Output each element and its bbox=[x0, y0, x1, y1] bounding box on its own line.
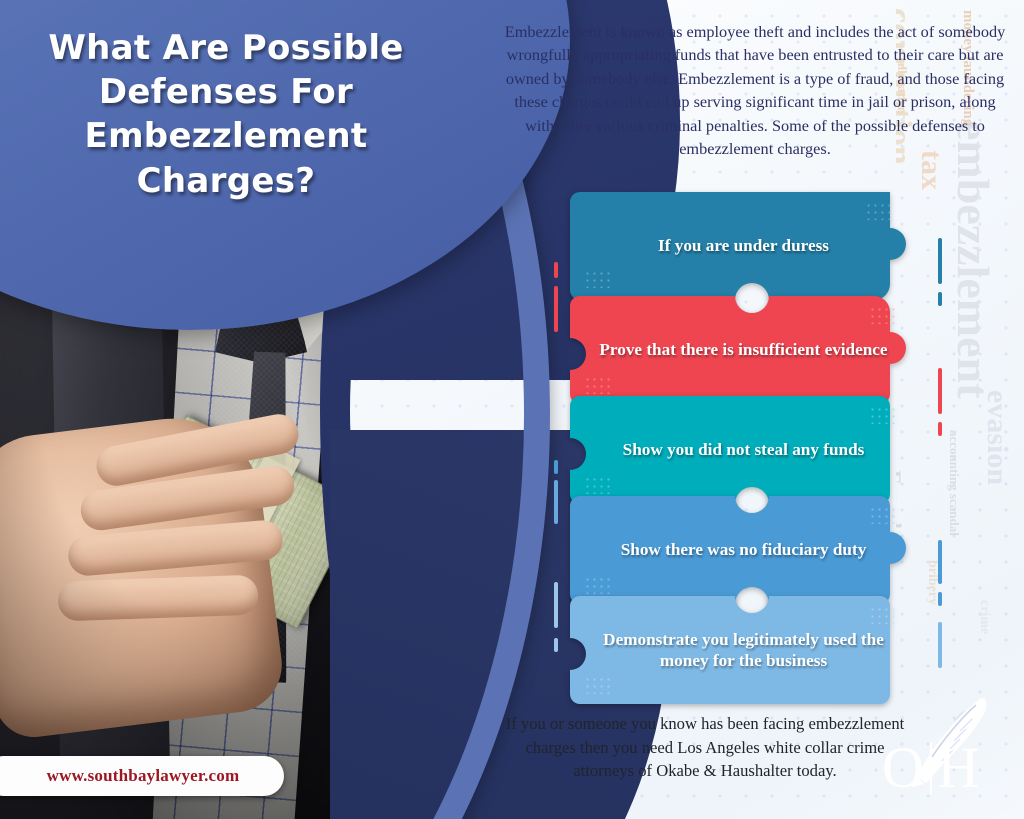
website-url-badge[interactable]: www.southbaylawyer.com bbox=[0, 756, 284, 796]
firm-logo[interactable]: O H bbox=[868, 683, 1018, 815]
dot-pattern bbox=[865, 202, 891, 220]
dot-pattern bbox=[584, 270, 610, 288]
tick-marker bbox=[938, 368, 942, 414]
dot-pattern bbox=[584, 476, 610, 494]
tick-marker bbox=[938, 622, 942, 668]
watermark-word: evasion bbox=[980, 390, 1014, 485]
intro-paragraph: Embezzlement is known as employee theft … bbox=[500, 20, 1010, 161]
puzzle-piece[interactable]: Show you did not steal any funds bbox=[570, 396, 925, 504]
puzzle-piece[interactable]: Prove that there is insufficient evidenc… bbox=[570, 296, 925, 404]
page-title: What Are Possible Defenses For Embezzlem… bbox=[14, 26, 438, 203]
dot-pattern bbox=[584, 376, 610, 394]
tick-marker bbox=[938, 422, 942, 436]
dot-pattern bbox=[869, 306, 895, 324]
infographic-canvas: embezzlement tax corruption evasion mone… bbox=[0, 0, 1024, 819]
tick-marker bbox=[554, 262, 558, 278]
logo-divider bbox=[930, 742, 933, 794]
logo-monogram: O H bbox=[882, 734, 980, 801]
dot-pattern bbox=[584, 576, 610, 594]
puzzle-piece[interactable]: If you are under duress bbox=[570, 192, 925, 300]
footer-paragraph: If you or someone you know has been faci… bbox=[505, 712, 905, 783]
puzzle-list: If you are under duress Prove that there… bbox=[540, 192, 960, 704]
tick-marker bbox=[554, 582, 558, 628]
tick-marker bbox=[938, 592, 942, 606]
watermark-word: crime bbox=[976, 600, 992, 634]
website-url-text: www.southbaylawyer.com bbox=[29, 766, 240, 786]
tick-marker bbox=[554, 460, 558, 474]
dot-pattern bbox=[869, 406, 895, 424]
tick-marker bbox=[938, 292, 942, 306]
tick-marker bbox=[938, 238, 942, 284]
tick-marker bbox=[554, 638, 558, 652]
puzzle-piece[interactable]: Show there was no fiduciary duty bbox=[570, 496, 925, 604]
tick-marker bbox=[554, 286, 558, 332]
dot-pattern bbox=[869, 506, 895, 524]
logo-letter-o: O bbox=[882, 734, 925, 801]
logo-letter-h: H bbox=[937, 734, 980, 801]
dot-pattern bbox=[584, 676, 610, 694]
tick-marker bbox=[938, 540, 942, 584]
dot-pattern bbox=[869, 606, 895, 624]
tick-marker bbox=[554, 480, 558, 524]
